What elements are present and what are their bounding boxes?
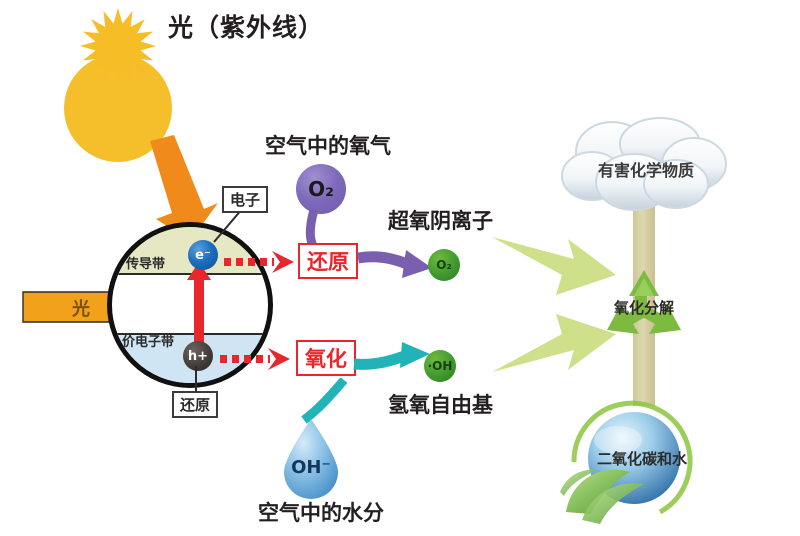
recycle-label: 氧化分解 <box>596 297 692 318</box>
moisture-molecule-symbol: OH⁻ <box>280 457 342 478</box>
oxidation-product-arrow-icon <box>352 336 432 380</box>
globe-leaf-icon: 二氧化碳和水 <box>552 400 732 530</box>
air-moisture-caption: 空气中的水分 <box>258 497 384 527</box>
light-arrow-label: 光 <box>72 295 90 321</box>
air-oxygen-caption: 空气中的氧气 <box>265 130 391 160</box>
hole-symbol: h+ <box>188 349 208 364</box>
hydroxyl-molecule: ·OH <box>424 350 456 382</box>
superoxide-molecule: O₂ <box>428 249 460 281</box>
electron-callout-label: 电子 <box>222 186 268 213</box>
valence-band-label: 价电子带 <box>122 331 174 350</box>
oxygen-molecule: O₂ <box>296 164 346 214</box>
superoxide-caption: 超氧阴离子 <box>388 205 493 235</box>
hydroxyl-molecule-symbol: ·OH <box>428 359 453 373</box>
reduction-dotted-arrow-icon <box>222 250 296 274</box>
superoxide-molecule-symbol: O₂ <box>436 258 451 272</box>
oxidation-dotted-arrow-icon <box>218 347 292 371</box>
hydroxyl-caption: 氢氧自由基 <box>388 389 493 419</box>
cloud-label: 有害化学物质 <box>556 157 736 181</box>
reduction-product-arrow-icon <box>356 244 434 284</box>
water-drop-icon: OH⁻ <box>280 417 342 501</box>
conduction-band-label: 传导带 <box>126 253 165 272</box>
oxidation-badge: 氧化 <box>296 340 356 376</box>
globe-label: 二氧化碳和水 <box>562 448 722 469</box>
oxygen-molecule-symbol: O₂ <box>308 177 334 201</box>
excitation-arrow-icon <box>186 262 212 352</box>
cloud-icon: 有害化学物质 <box>556 116 736 220</box>
photocatalysis-diagram: 光（紫外线） 光 传导带 价电子带 e <box>0 0 800 536</box>
reduction-badge: 还原 <box>298 243 358 279</box>
hole-callout-label: 还原 <box>172 391 218 418</box>
